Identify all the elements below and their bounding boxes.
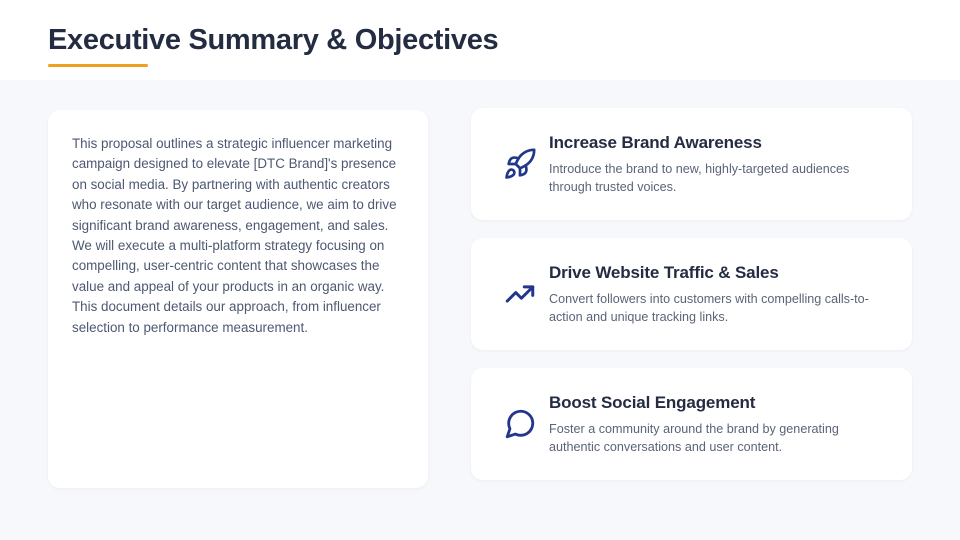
objective-description: Convert followers into customers with co…	[549, 291, 886, 326]
objective-card[interactable]: Boost Social Engagement Foster a communi…	[471, 368, 912, 480]
objective-text: Drive Website Traffic & Sales Convert fo…	[549, 262, 886, 326]
summary-paragraph: This proposal outlines a strategic influ…	[72, 134, 404, 236]
objective-text: Increase Brand Awareness Introduce the b…	[549, 132, 886, 196]
trending-up-icon	[491, 271, 549, 317]
objective-title: Increase Brand Awareness	[549, 132, 886, 154]
objective-description: Foster a community around the brand by g…	[549, 421, 886, 456]
objective-card[interactable]: Increase Brand Awareness Introduce the b…	[471, 108, 912, 220]
rocket-icon	[491, 141, 549, 187]
page-title: Executive Summary & Objectives	[48, 22, 498, 58]
slide-root: Executive Summary & Objectives This prop…	[0, 0, 960, 540]
title-accent-rule	[48, 64, 148, 67]
objective-title: Drive Website Traffic & Sales	[549, 262, 886, 284]
objectives-list: Increase Brand Awareness Introduce the b…	[471, 108, 912, 480]
objective-text: Boost Social Engagement Foster a communi…	[549, 392, 886, 456]
chat-bubble-icon	[491, 401, 549, 447]
content-area: This proposal outlines a strategic influ…	[0, 80, 960, 540]
objective-description: Introduce the brand to new, highly-targe…	[549, 161, 886, 196]
summary-card: This proposal outlines a strategic influ…	[48, 110, 428, 488]
summary-paragraph: We will execute a multi-platform strateg…	[72, 236, 404, 338]
header-band: Executive Summary & Objectives	[0, 0, 960, 80]
objective-title: Boost Social Engagement	[549, 392, 886, 414]
objective-card[interactable]: Drive Website Traffic & Sales Convert fo…	[471, 238, 912, 350]
